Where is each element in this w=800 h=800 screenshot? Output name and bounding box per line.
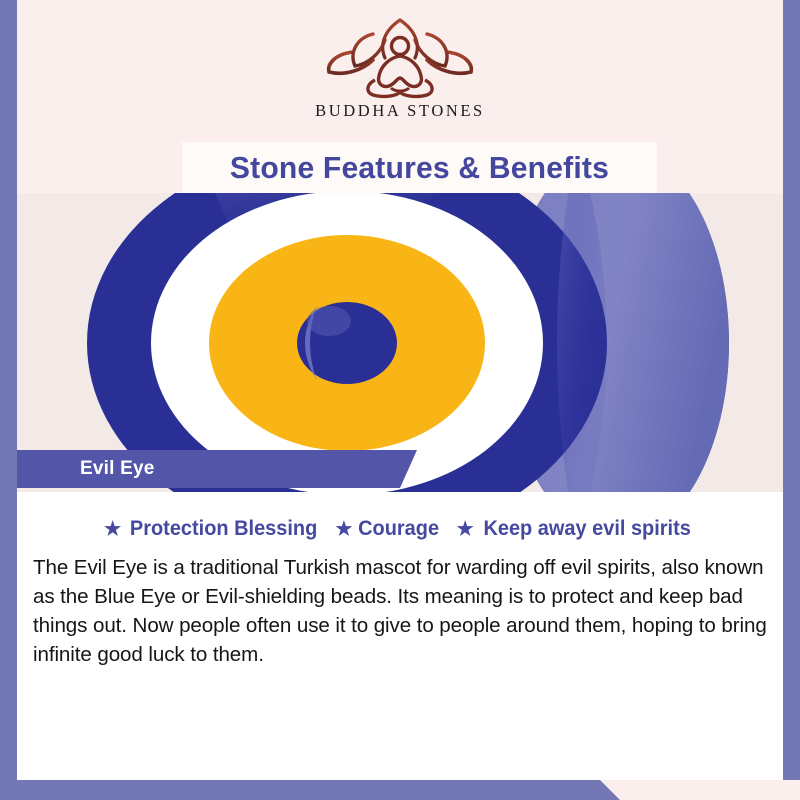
stone-name-banner: Evil Eye <box>17 450 417 488</box>
frame-left-accent-strip <box>0 0 17 780</box>
feature-list: ★ Protection Blessing ★ Courage ★ Keep a… <box>17 517 783 541</box>
page-title: Stone Features & Benefits <box>230 150 609 186</box>
content-area: ★ Protection Blessing ★ Courage ★ Keep a… <box>17 492 783 780</box>
page-title-band: Stone Features & Benefits <box>182 142 657 193</box>
description-text: The Evil Eye is a traditional Turkish ma… <box>33 553 778 669</box>
poster-header: BUDDHA STONES Stone Features & Benefits <box>17 0 783 193</box>
frame-bottom-cream-fill <box>600 780 800 800</box>
lotus-meditation-icon <box>315 14 485 99</box>
brand-name: BUDDHA STONES <box>315 101 485 121</box>
frame-bottom-accent-bar <box>0 780 620 800</box>
frame-right-accent-strip <box>783 0 800 800</box>
star-icon: ★ <box>104 520 121 539</box>
feature-label: Keep away evil spirits <box>483 517 690 541</box>
feature-item-courage: ★ Courage <box>335 517 441 541</box>
brand-logo: BUDDHA STONES <box>17 14 783 121</box>
evil-eye-bead-graphic <box>17 193 783 492</box>
feature-item-protection-blessing: ★ Protection Blessing <box>104 517 322 541</box>
feature-label: Protection Blessing <box>130 517 317 541</box>
stone-name-label: Evil Eye <box>80 458 154 480</box>
feature-label: Courage <box>359 517 440 541</box>
star-icon: ★ <box>335 520 352 539</box>
feature-item-keep-away-evil-spirits: ★ Keep away evil spirits <box>457 517 696 541</box>
evil-eye-image <box>17 193 783 492</box>
star-icon: ★ <box>457 520 474 539</box>
poster-canvas: BUDDHA STONES Stone Features & Benefits <box>0 0 800 800</box>
